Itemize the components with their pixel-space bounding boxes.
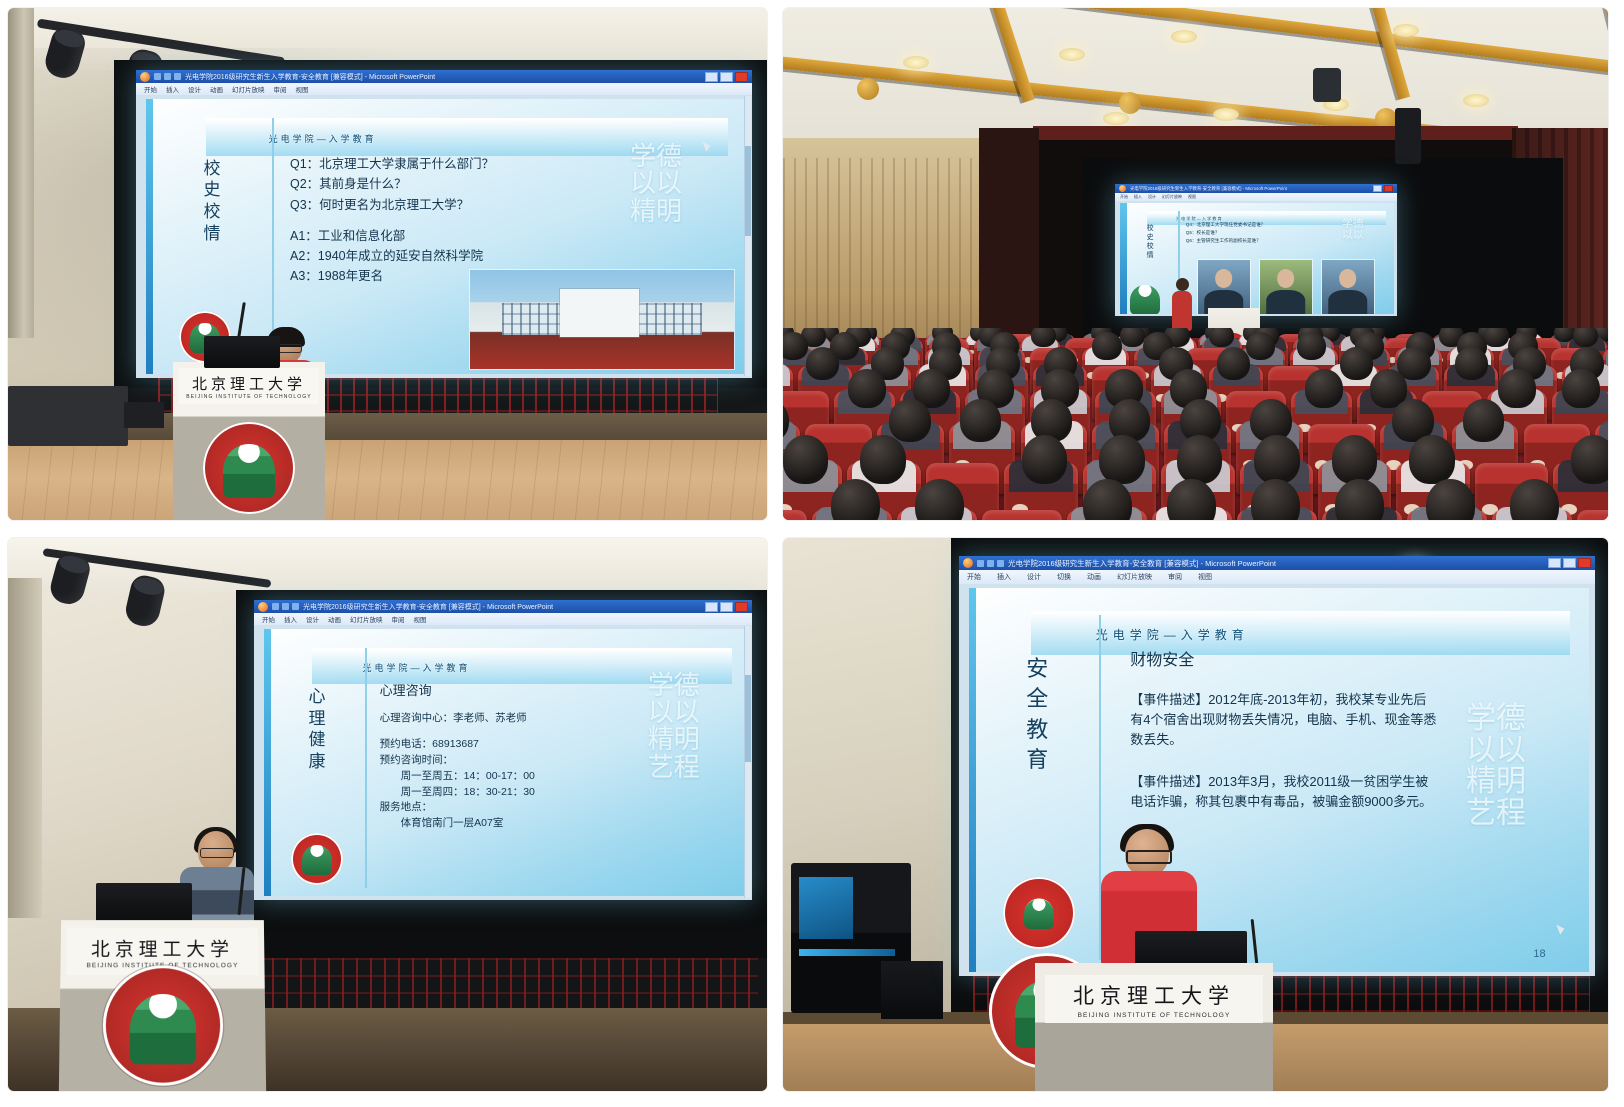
slide-canvas: 光电学院—入学教育 安 全 教 育 学德 以以 精明 艺程 bbox=[969, 588, 1589, 972]
projected-powerpoint-window: 光电学院2016级研究生新生入学教育-安全教育 [兼容模式] - Microso… bbox=[254, 600, 752, 900]
audience-member bbox=[1455, 347, 1488, 380]
ceiling-downlight-icon bbox=[1059, 48, 1085, 61]
slide-line: 预约电话：68913687 bbox=[380, 737, 732, 753]
window-title-bar: 光电学院2016级研究生新生入学教育-安全教育 [兼容模式] - Microso… bbox=[1115, 184, 1397, 193]
vertical-char: 校 bbox=[1147, 225, 1154, 232]
window-title-text: 光电学院2016级研究生新生入学教育-安全教育 [兼容模式] - Microso… bbox=[185, 72, 701, 82]
audience-member bbox=[1217, 347, 1250, 380]
university-seal-icon bbox=[1003, 877, 1075, 949]
university-seal-icon bbox=[1135, 290, 1155, 310]
presenter-glasses-icon bbox=[1126, 850, 1172, 864]
auditorium-seat bbox=[982, 510, 1062, 520]
presenter-laptop bbox=[96, 883, 192, 923]
campus-building-photo bbox=[470, 270, 734, 369]
slide-line: 心理咨询中心：李老师、苏老师 bbox=[380, 711, 732, 727]
ribbon-tab[interactable]: 幻灯片放映 bbox=[1162, 194, 1182, 200]
slide-header-text: 光电学院—入学教育 bbox=[312, 661, 470, 674]
photo-panel-top-right: 光电学院2016级研究生新生入学教育-安全教育 [兼容模式] - Microso… bbox=[783, 8, 1608, 520]
ceiling-downlight-icon bbox=[1171, 30, 1197, 43]
audience-member bbox=[1562, 369, 1599, 407]
audience-crowd bbox=[783, 328, 1608, 520]
emblem-pine-icon bbox=[223, 444, 275, 498]
slide-scrollbar[interactable] bbox=[744, 626, 751, 898]
ribbon-tab[interactable]: 开始 bbox=[967, 572, 981, 582]
slide-header-text: 光电学院—入学教育 bbox=[206, 132, 377, 145]
window-title-text: 光电学院2016级研究生新生入学教育-安全教育 [兼容模式] - Microso… bbox=[1008, 558, 1544, 569]
audience-member bbox=[783, 435, 828, 483]
window-title-bar: 光电学院2016级研究生新生入学教育-安全教育 [兼容模式] - Microso… bbox=[254, 600, 752, 613]
window-title-text: 光电学院2016级研究生新生入学教育-安全教育 [兼容模式] - Microso… bbox=[303, 602, 701, 612]
ribbon-tab[interactable]: 插入 bbox=[997, 572, 1011, 582]
portrait-row: 党委书记 赵长禄 校长 中国工程院院士 胡海岩 副校长 方岱宁 bbox=[1186, 260, 1386, 314]
vertical-char: 史 bbox=[1147, 234, 1154, 241]
ribbon-tab[interactable]: 视图 bbox=[414, 614, 427, 624]
slide-canvas: 光电学院—入学教育 校 史 校 情 学德 以以 精明 bbox=[146, 99, 746, 374]
slide-line: 数丢失。 bbox=[1130, 730, 1570, 750]
podium: 北京理工大学 BEIJING INSTITUTE OF TECHNOLOGY bbox=[1035, 963, 1273, 1091]
slide-spacer bbox=[290, 215, 728, 226]
ribbon-tab[interactable]: 动画 bbox=[328, 614, 341, 624]
proscenium-valance bbox=[1033, 126, 1518, 140]
ribbon-tab[interactable]: 幻灯片放映 bbox=[350, 614, 383, 624]
slide-line: 有4个宿舍出现财物丢失情况，电脑、手机、现金等悉 bbox=[1130, 710, 1570, 730]
ribbon-tab[interactable]: 设计 bbox=[306, 614, 319, 624]
slide-header-band: 光电学院—入学教育 bbox=[206, 118, 728, 156]
vertical-char: 康 bbox=[309, 753, 326, 771]
window-title-bar: 光电学院2016级研究生新生入学教育-安全教育 [兼容模式] - Microso… bbox=[959, 556, 1595, 570]
slide-vertical-title: 校 史 校 情 bbox=[176, 160, 248, 243]
ribbon-tab[interactable]: 插入 bbox=[284, 614, 297, 624]
audience-member bbox=[1340, 347, 1373, 380]
slide-line: 电话诈骗，称其包裹中有毒品，被骗金额9000多元。 bbox=[1130, 792, 1570, 812]
vertical-char: 心 bbox=[309, 688, 326, 706]
office-orb-icon[interactable] bbox=[140, 72, 150, 82]
podium: 北京理工大学 BEIJING INSTITUTE OF TECHNOLOGY bbox=[59, 920, 266, 1091]
loudspeaker-icon bbox=[1395, 108, 1421, 164]
vertical-char: 校 bbox=[1147, 243, 1154, 250]
office-orb-icon[interactable] bbox=[258, 602, 268, 612]
slide-page-number: 18 bbox=[1533, 948, 1545, 960]
ribbon-tab[interactable]: 设计 bbox=[1027, 572, 1041, 582]
slide-line: 周一至周四：18：30-21：30 bbox=[380, 785, 732, 801]
photo-panel-bottom-left: 光电学院2016级研究生新生入学教育-安全教育 [兼容模式] - Microso… bbox=[8, 538, 767, 1091]
ceiling-downlight-icon bbox=[1103, 112, 1129, 125]
portrait-photo: 校长 中国工程院院士 胡海岩 bbox=[1260, 260, 1312, 314]
ribbon-tab[interactable]: 开始 bbox=[262, 614, 275, 624]
auditorium-seat bbox=[783, 510, 807, 520]
audience-member bbox=[1305, 369, 1342, 407]
audience-member bbox=[960, 399, 1001, 442]
slide-vertical-title: 心 理 健 康 bbox=[288, 688, 346, 771]
podium-sign: 北京理工大学 BEIJING INSTITUTE OF TECHNOLOGY bbox=[179, 368, 319, 404]
vertical-char: 情 bbox=[1147, 252, 1154, 259]
window-controls[interactable] bbox=[705, 602, 748, 612]
audience-member bbox=[1463, 399, 1504, 442]
slide-vertical-title: 校 史 校 情 bbox=[1134, 225, 1167, 259]
vertical-char: 教 bbox=[1026, 718, 1048, 741]
vertical-char: 史 bbox=[204, 181, 221, 199]
slide-line: A1：工业和信息化部 bbox=[290, 226, 728, 246]
slide-line: A2：1940年成立的延安自然科学院 bbox=[290, 246, 728, 266]
audience-member bbox=[1409, 435, 1455, 483]
podium: 北京理工大学 BEIJING INSTITUTE OF TECHNOLOGY bbox=[173, 362, 325, 520]
presenter-laptop bbox=[204, 336, 280, 368]
podium-sign-en: BEIJING INSTITUTE OF TECHNOLOGY bbox=[1078, 1012, 1231, 1019]
ribbon-tab[interactable]: 审阅 bbox=[1168, 572, 1182, 582]
ceiling-projector-icon bbox=[1313, 68, 1341, 102]
ribbon-tab[interactable]: 设计 bbox=[1148, 194, 1156, 200]
quick-access-toolbar[interactable] bbox=[272, 603, 299, 610]
vertical-char: 情 bbox=[204, 225, 221, 243]
beam-node bbox=[857, 78, 879, 100]
ceiling-downlight-icon bbox=[1393, 24, 1419, 37]
slide-line: 预约咨询时间： bbox=[380, 753, 732, 769]
stage-monitor bbox=[8, 386, 128, 446]
university-emblem-icon bbox=[102, 965, 223, 1085]
audience-member bbox=[1177, 435, 1223, 483]
audience-member bbox=[806, 347, 839, 380]
ribbon-tab[interactable]: 开始 bbox=[144, 84, 157, 94]
ribbon-tab[interactable]: 动画 bbox=[210, 84, 223, 94]
slide-body: Q4：北京理工大学现任党委书记是谁？ Q5：校长是谁？ Q6：主管研究生工作的副… bbox=[1186, 221, 1386, 310]
ribbon-tab[interactable]: 切换 bbox=[1057, 572, 1071, 582]
wood-floor-grain bbox=[8, 440, 767, 520]
vertical-char: 全 bbox=[1026, 687, 1048, 710]
audience-member bbox=[1246, 332, 1275, 361]
slide-line: Q4：北京理工大学现任党委书记是谁？ bbox=[1186, 221, 1386, 229]
vertical-char: 育 bbox=[1026, 748, 1048, 771]
portrait-photo: 副校长 方岱宁 bbox=[1322, 260, 1374, 314]
vertical-char: 校 bbox=[204, 160, 221, 178]
ceiling-downlight-icon bbox=[1463, 94, 1489, 107]
presenter-figure bbox=[1172, 278, 1192, 334]
slide-stage: 光电学院—入学教育 安 全 教 育 学德 以以 精明 艺程 bbox=[959, 584, 1595, 976]
audience-member bbox=[1498, 369, 1535, 407]
slide-scrollbar[interactable] bbox=[744, 96, 751, 376]
piano-bench bbox=[881, 961, 943, 1019]
ribbon-tab[interactable]: 幻灯片放映 bbox=[1117, 572, 1152, 582]
slide-line: Q2：其前身是什么？ bbox=[290, 174, 728, 194]
slide-canvas: 光电学院—入学教育 心 理 健 康 学德 以以 精明 艺程 bbox=[264, 629, 746, 896]
wall-column bbox=[8, 8, 34, 338]
vertical-char: 理 bbox=[309, 710, 326, 728]
ribbon-tab[interactable]: 视图 bbox=[1188, 194, 1196, 200]
podium-sign-en: BEIJING INSTITUTE OF TECHNOLOGY bbox=[186, 394, 311, 400]
projected-powerpoint-window: 光电学院2016级研究生新生入学教育-安全教育 [兼容模式] - Microso… bbox=[1115, 184, 1397, 316]
portrait-photo: 党委书记 赵长禄 bbox=[1198, 260, 1250, 314]
ribbon-tab[interactable]: 视图 bbox=[1198, 572, 1212, 582]
ceiling-downlight-icon bbox=[903, 56, 929, 69]
slide-stage: 光电学院—入学教育 心 理 健 康 学德 以以 精明 艺程 bbox=[254, 625, 752, 900]
office-orb-icon[interactable] bbox=[1119, 185, 1126, 192]
audience-member bbox=[1092, 332, 1121, 361]
ceiling-downlight-icon bbox=[1213, 108, 1239, 121]
window-title-text: 光电学院2016级研究生新生入学教育-安全教育 [兼容模式] - Microso… bbox=[1130, 186, 1369, 192]
podium-sign-cn: 北京理工大学 bbox=[1073, 980, 1235, 1010]
photo-panel-top-left: 光电学院2016级研究生新生入学教育-安全教育 [兼容模式] - Microso… bbox=[8, 8, 767, 520]
podium-sign: 北京理工大学 BEIJING INSTITUTE OF TECHNOLOGY bbox=[1045, 975, 1263, 1023]
quick-access-toolbar[interactable] bbox=[154, 73, 181, 80]
slide-stage: 光电学院—入学教育 校 史 校 情 学德 以以 Q4：北 bbox=[1115, 201, 1397, 316]
ribbon-tabs[interactable]: 开始 插入 设计 切换 动画 幻灯片放映 审阅 视图 bbox=[959, 570, 1595, 585]
slide-line: 周一至周五：14：00-17：00 bbox=[380, 769, 732, 785]
beam-node bbox=[1119, 92, 1141, 114]
ribbon-tab[interactable]: 设计 bbox=[188, 84, 201, 94]
vertical-char: 校 bbox=[204, 203, 221, 221]
slide-heading: 心理咨询 bbox=[380, 680, 732, 699]
office-orb-icon[interactable] bbox=[963, 558, 973, 568]
audience-member bbox=[1099, 435, 1145, 483]
vertical-char: 安 bbox=[1026, 657, 1048, 680]
university-seal-icon bbox=[291, 833, 343, 885]
photo-panel-bottom-right: 光电学院2016级研究生新生入学教育-安全教育 [兼容模式] - Microso… bbox=[783, 538, 1608, 1091]
audience-member bbox=[889, 399, 930, 442]
ribbon-tab[interactable]: 开始 bbox=[1120, 194, 1128, 200]
ribbon-tab[interactable]: 审阅 bbox=[274, 84, 287, 94]
slide-spacer bbox=[1130, 750, 1570, 772]
ribbon-tab[interactable]: 审阅 bbox=[392, 614, 405, 624]
slide-line: 体育馆南门一层A07室 bbox=[380, 816, 732, 832]
podium-sign-cn: 北京理工大学 bbox=[91, 934, 234, 961]
ribbon-tab[interactable]: 动画 bbox=[1087, 572, 1101, 582]
ribbon-tab[interactable]: 插入 bbox=[1134, 194, 1142, 200]
slide-vertical-title: 安 全 教 育 bbox=[1000, 657, 1074, 771]
window-controls[interactable] bbox=[705, 72, 748, 82]
audience-member bbox=[1022, 435, 1068, 483]
slide-line: Q3：何时更名为北京理工大学？ bbox=[290, 195, 728, 215]
slide-line: 【事件描述】2012年底-2013年初，我校某专业先后 bbox=[1130, 690, 1570, 710]
audience-member bbox=[1297, 332, 1326, 361]
ribbon-tab[interactable]: 视图 bbox=[296, 84, 309, 94]
audience-member bbox=[1254, 435, 1300, 483]
photo-collage: 光电学院2016级研究生新生入学教育-安全教育 [兼容模式] - Microso… bbox=[0, 0, 1624, 1107]
window-controls[interactable] bbox=[1373, 185, 1393, 192]
slide-line: Q6：主管研究生工作的副校长是谁？ bbox=[1186, 237, 1386, 245]
auditorium-seat bbox=[1577, 510, 1609, 520]
podium-sign-cn: 北京理工大学 bbox=[192, 373, 306, 394]
audience-member bbox=[1571, 435, 1608, 483]
audience-member bbox=[1031, 328, 1056, 347]
slide-line: 【事件描述】2013年3月，我校2011级一贫困学生被 bbox=[1130, 772, 1570, 792]
audience-member bbox=[783, 332, 808, 361]
slide-body: 心理咨询 心理咨询中心：李老师、苏老师 预约电话：68913687 预约咨询时间… bbox=[380, 680, 732, 886]
audience-member bbox=[1332, 435, 1378, 483]
projected-powerpoint-window: 光电学院2016级研究生新生入学教育-安全教育 [兼容模式] - Microso… bbox=[959, 556, 1595, 976]
audience-member bbox=[1573, 328, 1598, 347]
ribbon-tab[interactable]: 插入 bbox=[166, 84, 179, 94]
ribbon-tab[interactable]: 幻灯片放映 bbox=[232, 84, 265, 94]
slide-divider bbox=[365, 648, 367, 888]
slide-spacer bbox=[380, 726, 732, 737]
audience-member bbox=[1483, 328, 1508, 347]
slide-line: Q1：北京理工大学隶属于什么部门？ bbox=[290, 154, 728, 174]
slide-line: Q5：校长是谁？ bbox=[1186, 229, 1386, 237]
quick-access-toolbar[interactable] bbox=[977, 560, 1004, 567]
university-emblem-icon bbox=[203, 422, 295, 514]
audience-member bbox=[860, 435, 906, 483]
slide-canvas: 光电学院—入学教育 校 史 校 情 学德 以以 Q4：北 bbox=[1120, 203, 1394, 314]
presenter-glasses-icon bbox=[200, 848, 234, 858]
slide-line: 服务地点： bbox=[380, 800, 732, 816]
window-controls[interactable] bbox=[1548, 558, 1591, 568]
wall-column bbox=[8, 578, 42, 918]
stage-equipment bbox=[124, 402, 164, 428]
projected-powerpoint-window: 光电学院2016级研究生新生入学教育-安全教育 [兼容模式] - Microso… bbox=[136, 70, 752, 378]
audience-member bbox=[848, 369, 885, 407]
slide-heading: 财物安全 bbox=[1130, 646, 1570, 670]
vertical-char: 健 bbox=[309, 731, 326, 749]
slide-header-text: 光电学院—入学教育 bbox=[1031, 626, 1249, 643]
window-title-bar: 光电学院2016级研究生新生入学教育-安全教育 [兼容模式] - Microso… bbox=[136, 70, 752, 83]
